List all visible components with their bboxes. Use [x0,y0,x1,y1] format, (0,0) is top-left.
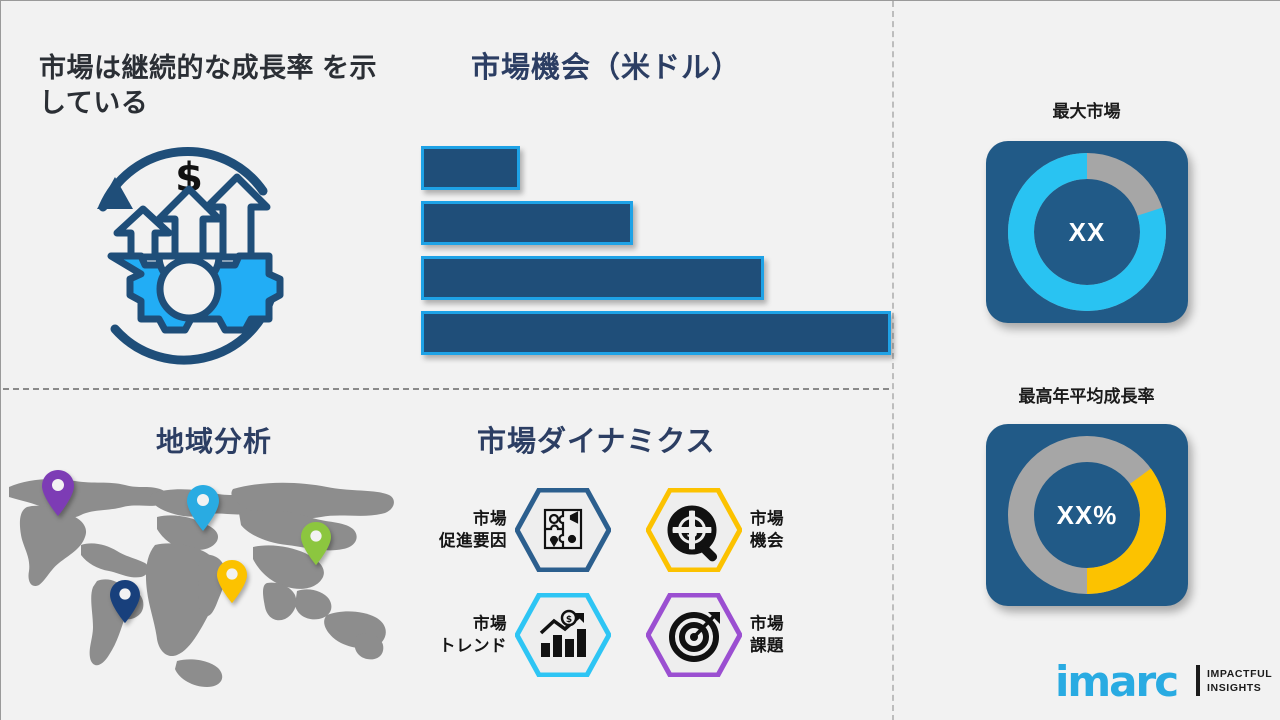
largest-market-value-wrap: XX [986,141,1188,323]
market-opportunity-bar-chart [421,146,891,356]
bar-1 [421,146,520,190]
dynamics-item-trends[interactable]: 市場 トレンド $ [411,593,611,677]
logo-tagline-line1: IMPACTFUL [1207,668,1272,680]
svg-text:$: $ [566,615,572,625]
slide-canvas: 市場は継続的な成長率 を示している $ 市場機会（米ドル） [0,0,1280,720]
logo-divider [1196,665,1200,696]
dynamics-item-label: 市場 課題 [750,613,846,658]
growth-gear-arrows-icon: $ [63,129,315,367]
pin-europe [186,484,220,532]
growth-section-title: 市場は継続的な成長率 を示している [39,51,389,120]
bar-row [421,256,764,300]
highest-cagr-value-wrap: XX% [986,424,1188,606]
dynamics-item-label: 市場 トレンド [411,613,507,658]
bar-row [421,201,633,245]
largest-market-title: 最大市場 [892,97,1280,122]
largest-market-donut-card: XX [986,141,1188,323]
pin-east-asia [300,521,332,566]
bar-4 [421,311,891,355]
highest-cagr-value: XX% [1057,500,1118,531]
world-map-icon [0,459,397,689]
dynamics-item-drivers[interactable]: 市場 促進要因 [411,488,611,572]
magnifier-dollar-icon: $ [646,488,742,572]
dynamics-item-label: 市場 機会 [750,508,846,553]
puzzle-pieces-icon [515,488,611,572]
dynamics-item-opportunities[interactable]: $ 市場 機会 [646,488,846,572]
dynamics-item-label: 市場 促進要因 [411,508,507,553]
logo-tagline-line2: INSIGHTS [1207,682,1261,694]
pin-north-america [41,469,75,517]
highest-cagr-title: 最高年平均成長率 [892,382,1280,407]
highest-cagr-donut-card: XX% [986,424,1188,606]
dynamics-item-challenges[interactable]: 市場 課題 [646,593,846,677]
dynamics-section-title: 市場ダイナミクス [477,425,716,460]
target-dart-icon [646,593,742,677]
largest-market-value: XX [1069,217,1106,248]
bar-3 [421,256,764,300]
bar-row [421,311,891,355]
pin-south-america [109,579,141,624]
bar-row [421,146,520,190]
bar-chart-growth-icon: $ [515,593,611,677]
imarc-logo[interactable]: imarc IMPACTFUL INSIGHTS [1055,651,1267,709]
bar-2 [421,201,633,245]
region-section-title: 地域分析 [156,425,272,459]
logo-wordmark: imarc [1055,661,1177,703]
pin-middle-east [216,559,248,604]
horizontal-divider [3,388,889,390]
opportunity-section-title: 市場機会（米ドル） [471,51,741,86]
